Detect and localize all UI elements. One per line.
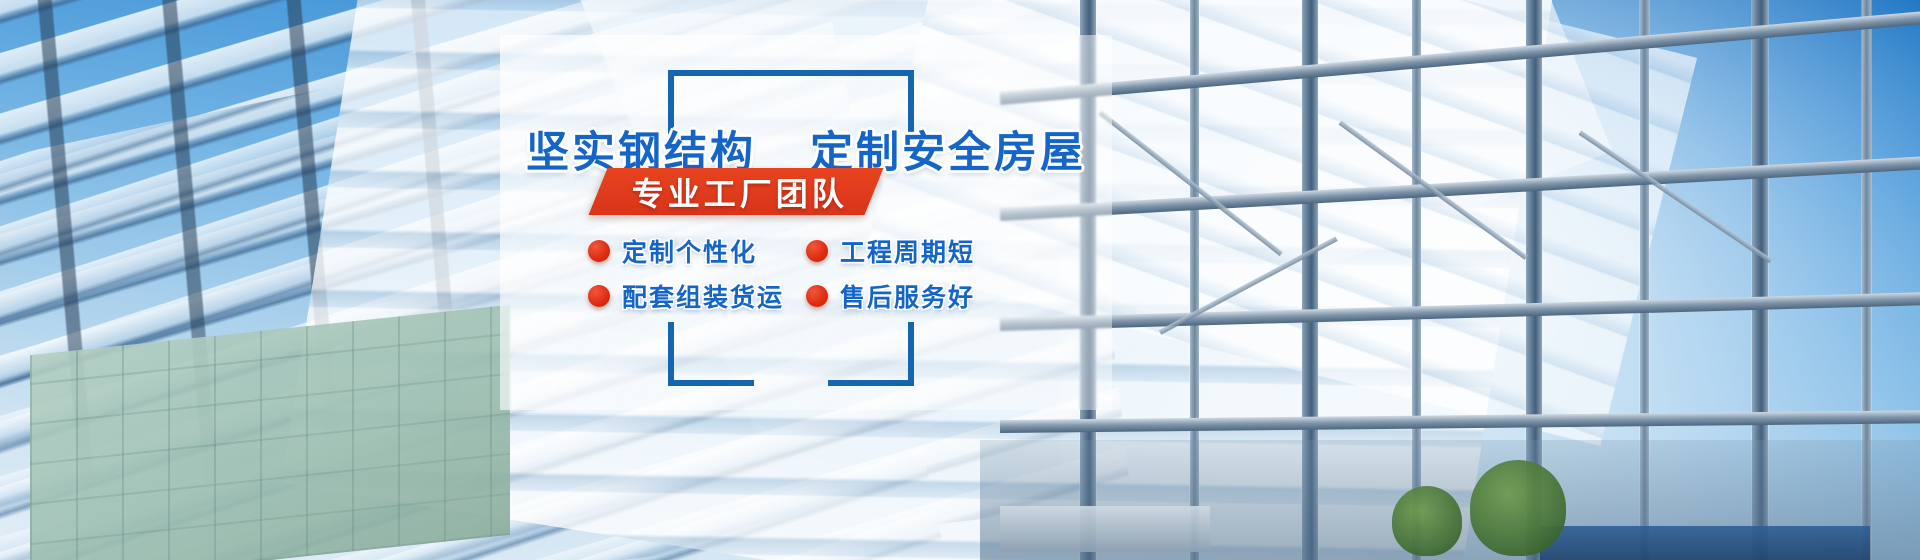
feature-item: 工程周期短	[806, 233, 1016, 269]
feature-label: 配套组装货运	[622, 278, 784, 314]
steel-rafter	[1000, 410, 1920, 433]
bullet-dot-icon	[806, 240, 828, 262]
feature-item: 售后服务好	[806, 278, 1016, 314]
ribbon-label: 专业工厂团队	[632, 169, 848, 215]
bullet-dot-icon	[588, 285, 610, 307]
bullet-dot-icon	[806, 285, 828, 307]
tree	[1392, 486, 1462, 556]
hero-banner: 坚实钢结构 定制安全房屋 专业工厂团队 定制个性化 工程周期短 配套组装货运 售…	[0, 0, 1920, 560]
steel-rafter	[999, 7, 1920, 105]
feature-list: 定制个性化 工程周期短 配套组装货运 售后服务好	[588, 228, 1028, 318]
distant-shed	[1000, 506, 1210, 552]
tree	[1470, 460, 1566, 556]
steel-rafter	[1000, 291, 1920, 331]
feature-item: 配套组装货运	[588, 278, 806, 314]
feature-label: 售后服务好	[840, 278, 975, 314]
content-panel	[500, 35, 1112, 410]
brace-diagonal	[1579, 130, 1772, 263]
ribbon-banner: 专业工厂团队	[589, 168, 884, 215]
feature-label: 工程周期短	[840, 233, 975, 269]
bracket-bottom-right-icon	[828, 322, 914, 386]
bracket-bottom-left-icon	[668, 322, 754, 386]
feature-label: 定制个性化	[622, 233, 757, 269]
bullet-dot-icon	[588, 240, 610, 262]
distant-blue-building	[1540, 526, 1870, 560]
feature-item: 定制个性化	[588, 233, 806, 269]
